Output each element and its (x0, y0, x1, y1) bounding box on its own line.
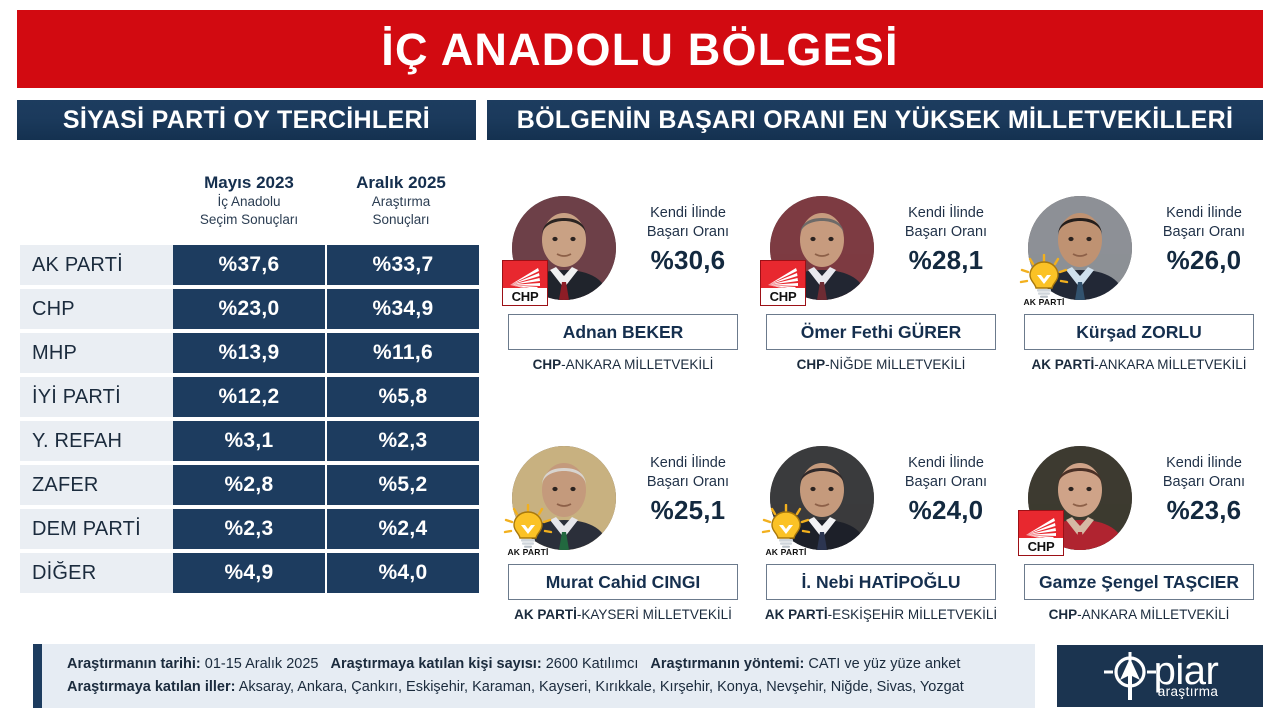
deputy-card: AK PARTİKendi İlindeBaşarı Oranı%24,0İ. … (752, 426, 1010, 676)
avatar-wrap: CHP (1028, 446, 1132, 550)
deputy-party-name: CHP (1049, 607, 1078, 622)
section-header-right: BÖLGENİN BAŞARI ORANI EN YÜKSEK MİLLETVE… (487, 100, 1263, 140)
rate-value: %24,0 (882, 495, 1010, 526)
avatar-wrap: AK PARTİ (770, 446, 874, 550)
footer-cities-value: Aksaray, Ankara, Çankırı, Eskişehir, Kar… (239, 679, 964, 695)
chp-label: CHP (503, 288, 547, 305)
party-badge: CHP (760, 260, 806, 306)
table-row: İYİ PARTİ%12,2%5,8 (20, 377, 479, 417)
chp-party-logo-icon: CHP (1018, 510, 1064, 556)
deputy-card-top: AK PARTİKendi İlindeBaşarı Oranı%25,1 (494, 426, 752, 554)
table-body: AK PARTİ%37,6%33,7CHP%23,0%34,9MHP%13,9%… (20, 245, 479, 593)
deputy-party-name: AK PARTİ (514, 607, 577, 622)
rate-label-line2: Başarı Oranı (624, 473, 752, 492)
rate-value: %26,0 (1140, 245, 1268, 276)
table-cell-may2023: %2,3 (173, 509, 325, 549)
table-row: CHP%23,0%34,9 (20, 289, 479, 329)
deputy-party-name: CHP (797, 357, 826, 372)
table-row: ZAFER%2,8%5,2 (20, 465, 479, 505)
table-cell-party: MHP (20, 333, 173, 373)
ak-parti-lightbulb-icon: AK PARTİ (1018, 254, 1070, 306)
table-cell-party: İYİ PARTİ (20, 377, 173, 417)
table-cell-may2023: %4,9 (173, 553, 325, 593)
deputy-name-box: Murat Cahid CINGI (508, 564, 738, 600)
deputy-card-top: CHPKendi İlindeBaşarı Oranı%28,1 (752, 176, 1010, 304)
success-rate-block: Kendi İlindeBaşarı Oranı%30,6 (624, 204, 752, 276)
section-header-left-label: SİYASİ PARTİ OY TERCİHLERİ (63, 106, 430, 135)
piar-logo-tagline: araştırma (1154, 684, 1219, 699)
deputy-card-top: AK PARTİKendi İlindeBaşarı Oranı%26,0 (1010, 176, 1268, 304)
footer-sample-label: Araştırmaya katılan kişi sayısı: (330, 656, 541, 672)
deputy-name-box: Gamze Şengel TAŞCIER (1024, 564, 1254, 600)
ak-parti-lightbulb-icon: AK PARTİ (502, 504, 554, 556)
main-title-bar: İÇ ANADOLU BÖLGESİ (17, 10, 1263, 88)
target-crosshair-icon (1102, 650, 1158, 702)
table-cell-may2023: %37,6 (173, 245, 325, 285)
rate-value: %30,6 (624, 245, 752, 276)
avatar-wrap: CHP (512, 196, 616, 300)
table-cell-party: DİĞER (20, 553, 173, 593)
rate-label-line2: Başarı Oranı (1140, 473, 1268, 492)
table-cell-dec2025: %2,4 (327, 509, 479, 549)
footer-date-value: 01-15 Aralık 2025 (205, 656, 319, 672)
ak-parti-label: AK PARTİ (498, 547, 558, 557)
footer-line-1: Araştırmanın tarihi: 01-15 Aralık 2025 A… (67, 653, 964, 676)
piar-logo-inner: piar araştırma (1102, 650, 1219, 702)
table-cell-dec2025: %4,0 (327, 553, 479, 593)
page-title: İÇ ANADOLU BÖLGESİ (381, 27, 898, 72)
table-cell-dec2025: %11,6 (327, 333, 479, 373)
table-cell-may2023: %12,2 (173, 377, 325, 417)
ak-parti-label: AK PARTİ (1014, 297, 1074, 307)
rate-value: %28,1 (882, 245, 1010, 276)
rate-label-line2: Başarı Oranı (882, 223, 1010, 242)
column-header-dec-2025-sub1: Araştırma (325, 193, 477, 210)
table-cell-may2023: %23,0 (173, 289, 325, 329)
footer-line-2: Araştırmaya katılan iller: Aksaray, Anka… (67, 676, 964, 699)
table-row: MHP%13,9%11,6 (20, 333, 479, 373)
deputy-role-city: -KAYSERİ MİLLETVEKİLİ (577, 607, 732, 622)
deputy-role-line: CHP-ANKARA MİLLETVEKİLİ (494, 357, 752, 372)
deputy-name-box: Adnan BEKER (508, 314, 738, 350)
rate-label-line2: Başarı Oranı (882, 473, 1010, 492)
avatar-wrap: AK PARTİ (512, 446, 616, 550)
deputy-role-line: AK PARTİ-ANKARA MİLLETVEKİLİ (1010, 357, 1268, 372)
column-header-dec-2025-sub2: Sonuçları (325, 211, 477, 228)
deputy-role-line: CHP-ANKARA MİLLETVEKİLİ (1010, 607, 1268, 622)
table-cell-dec2025: %33,7 (327, 245, 479, 285)
piar-logo: piar araştırma (1057, 645, 1263, 707)
table-cell-dec2025: %2,3 (327, 421, 479, 461)
rate-value: %25,1 (624, 495, 752, 526)
deputy-role-city: -ANKARA MİLLETVEKİLİ (1077, 607, 1229, 622)
success-rate-block: Kendi İlindeBaşarı Oranı%23,6 (1140, 454, 1268, 526)
rate-label-line2: Başarı Oranı (624, 223, 752, 242)
success-rate-block: Kendi İlindeBaşarı Oranı%26,0 (1140, 204, 1268, 276)
party-badge: CHP (1018, 510, 1064, 556)
deputy-party-name: AK PARTİ (765, 607, 828, 622)
table-column-headers: Mayıs 2023 İç Anadolu Seçim Sonuçları Ar… (20, 150, 479, 245)
table-cell-party: ZAFER (20, 465, 173, 505)
table-cell-dec2025: %5,8 (327, 377, 479, 417)
footer-cities-label: Araştırmaya katılan iller: (67, 679, 235, 695)
column-header-dec-2025: Aralık 2025 Araştırma Sonuçları (325, 150, 477, 245)
rate-label-line1: Kendi İlinde (624, 454, 752, 473)
deputy-role-city: -NİĞDE MİLLETVEKİLİ (825, 357, 965, 372)
party-badge: AK PARTİ (502, 504, 554, 556)
footer-accent-bar (33, 644, 42, 708)
table-cell-party: DEM PARTİ (20, 509, 173, 549)
deputy-card: CHPKendi İlindeBaşarı Oranı%30,6Adnan BE… (494, 176, 752, 426)
success-rate-block: Kendi İlindeBaşarı Oranı%25,1 (624, 454, 752, 526)
table-row: DEM PARTİ%2,3%2,4 (20, 509, 479, 549)
chp-party-logo-icon: CHP (502, 260, 548, 306)
party-badge: CHP (502, 260, 548, 306)
rate-label-line1: Kendi İlinde (1140, 454, 1268, 473)
deputy-card-top: CHPKendi İlindeBaşarı Oranı%23,6 (1010, 426, 1268, 554)
chp-label: CHP (761, 288, 805, 305)
deputy-card: CHPKendi İlindeBaşarı Oranı%28,1Ömer Fet… (752, 176, 1010, 426)
table-cell-party: CHP (20, 289, 173, 329)
column-header-may-2023-sub2: Seçim Sonuçları (173, 211, 325, 228)
column-header-may-2023-title: Mayıs 2023 (173, 172, 325, 193)
table-cell-dec2025: %34,9 (327, 289, 479, 329)
ak-parti-lightbulb-icon: AK PARTİ (760, 504, 812, 556)
footer-date-label: Araştırmanın tarihi: (67, 656, 201, 672)
column-header-may-2023: Mayıs 2023 İç Anadolu Seçim Sonuçları (173, 150, 325, 245)
infographic-page: İÇ ANADOLU BÖLGESİ SİYASİ PARTİ OY TERCİ… (0, 0, 1280, 723)
rate-label-line1: Kendi İlinde (882, 204, 1010, 223)
chp-party-logo-icon: CHP (760, 260, 806, 306)
rate-value: %23,6 (1140, 495, 1268, 526)
deputy-card-top: AK PARTİKendi İlindeBaşarı Oranı%24,0 (752, 426, 1010, 554)
table-row: DİĞER%4,9%4,0 (20, 553, 479, 593)
success-rate-block: Kendi İlindeBaşarı Oranı%28,1 (882, 204, 1010, 276)
avatar-wrap: AK PARTİ (1028, 196, 1132, 300)
section-header-left: SİYASİ PARTİ OY TERCİHLERİ (17, 100, 476, 140)
footer-info-panel: Araştırmanın tarihi: 01-15 Aralık 2025 A… (33, 644, 1035, 708)
deputy-card: CHPKendi İlindeBaşarı Oranı%23,6Gamze Şe… (1010, 426, 1268, 676)
deputy-card-grid: CHPKendi İlindeBaşarı Oranı%30,6Adnan BE… (494, 176, 1266, 676)
table-row: Y. REFAH%3,1%2,3 (20, 421, 479, 461)
rate-label-line1: Kendi İlinde (624, 204, 752, 223)
footer-method-label: Araştırmanın yöntemi: (650, 656, 804, 672)
piar-logo-wordmark: piar araştırma (1154, 653, 1219, 699)
footer-sample-value: 2600 Katılımcı (546, 656, 639, 672)
deputy-role-city: -ANKARA MİLLETVEKİLİ (561, 357, 713, 372)
deputy-party-name: AK PARTİ (1031, 357, 1094, 372)
avatar-wrap: CHP (770, 196, 874, 300)
footer-method-value: CATI ve yüz yüze anket (808, 656, 960, 672)
deputy-card: AK PARTİKendi İlindeBaşarı Oranı%26,0Kür… (1010, 176, 1268, 426)
deputy-role-city: -ESKİŞEHİR MİLLETVEKİLİ (828, 607, 998, 622)
table-cell-party: AK PARTİ (20, 245, 173, 285)
party-badge: AK PARTİ (760, 504, 812, 556)
deputy-party-name: CHP (533, 357, 562, 372)
table-cell-may2023: %13,9 (173, 333, 325, 373)
party-badge: AK PARTİ (1018, 254, 1070, 306)
deputy-role-line: AK PARTİ-ESKİŞEHİR MİLLETVEKİLİ (752, 607, 1010, 622)
column-header-dec-2025-title: Aralık 2025 (325, 172, 477, 193)
deputy-role-city: -ANKARA MİLLETVEKİLİ (1094, 357, 1246, 372)
rate-label-line1: Kendi İlinde (882, 454, 1010, 473)
rate-label-line1: Kendi İlinde (1140, 204, 1268, 223)
table-cell-may2023: %2,8 (173, 465, 325, 505)
rate-label-line2: Başarı Oranı (1140, 223, 1268, 242)
party-vote-table: Mayıs 2023 İç Anadolu Seçim Sonuçları Ar… (20, 150, 479, 597)
deputy-card-top: CHPKendi İlindeBaşarı Oranı%30,6 (494, 176, 752, 304)
deputy-role-line: AK PARTİ-KAYSERİ MİLLETVEKİLİ (494, 607, 752, 622)
table-cell-dec2025: %5,2 (327, 465, 479, 505)
ak-parti-label: AK PARTİ (756, 547, 816, 557)
footer-text-block: Araştırmanın tarihi: 01-15 Aralık 2025 A… (33, 653, 964, 700)
column-header-may-2023-sub1: İç Anadolu (173, 193, 325, 210)
table-cell-may2023: %3,1 (173, 421, 325, 461)
deputy-name-box: Kürşad ZORLU (1024, 314, 1254, 350)
table-row: AK PARTİ%37,6%33,7 (20, 245, 479, 285)
section-header-right-label: BÖLGENİN BAŞARI ORANI EN YÜKSEK MİLLETVE… (517, 106, 1233, 135)
deputy-name-box: Ömer Fethi GÜRER (766, 314, 996, 350)
chp-label: CHP (1019, 538, 1063, 555)
deputy-role-line: CHP-NİĞDE MİLLETVEKİLİ (752, 357, 1010, 372)
deputy-name-box: İ. Nebi HATİPOĞLU (766, 564, 996, 600)
table-cell-party: Y. REFAH (20, 421, 173, 461)
deputy-card: AK PARTİKendi İlindeBaşarı Oranı%25,1Mur… (494, 426, 752, 676)
success-rate-block: Kendi İlindeBaşarı Oranı%24,0 (882, 454, 1010, 526)
